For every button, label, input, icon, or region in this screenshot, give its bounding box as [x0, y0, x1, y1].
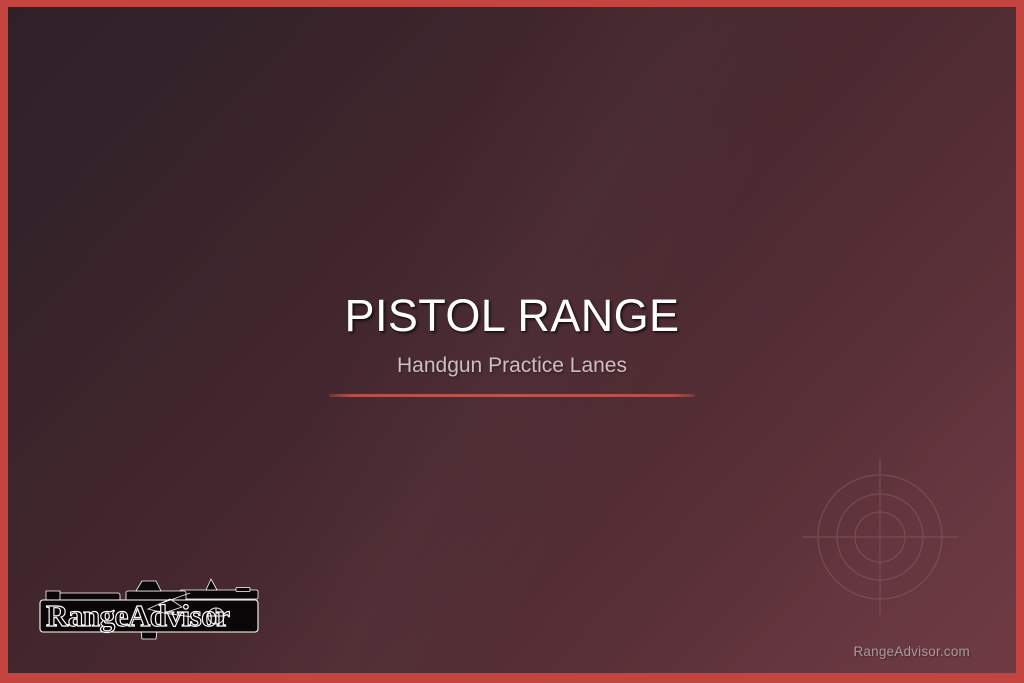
presentation-slide: PISTOL RANGE Handgun Practice Lanes [0, 0, 1024, 683]
title-block: PISTOL RANGE Handgun Practice Lanes [8, 290, 1016, 397]
brand-logo-text: RangeAdvisor [46, 598, 230, 633]
brand-logo: RangeAdvisor [30, 569, 270, 651]
title-divider [329, 394, 695, 397]
page-subtitle: Handgun Practice Lanes [8, 353, 1016, 379]
target-crosshair-icon [798, 455, 962, 619]
page-title: PISTOL RANGE [8, 290, 1016, 342]
footer-url: RangeAdvisor.com [853, 644, 970, 659]
